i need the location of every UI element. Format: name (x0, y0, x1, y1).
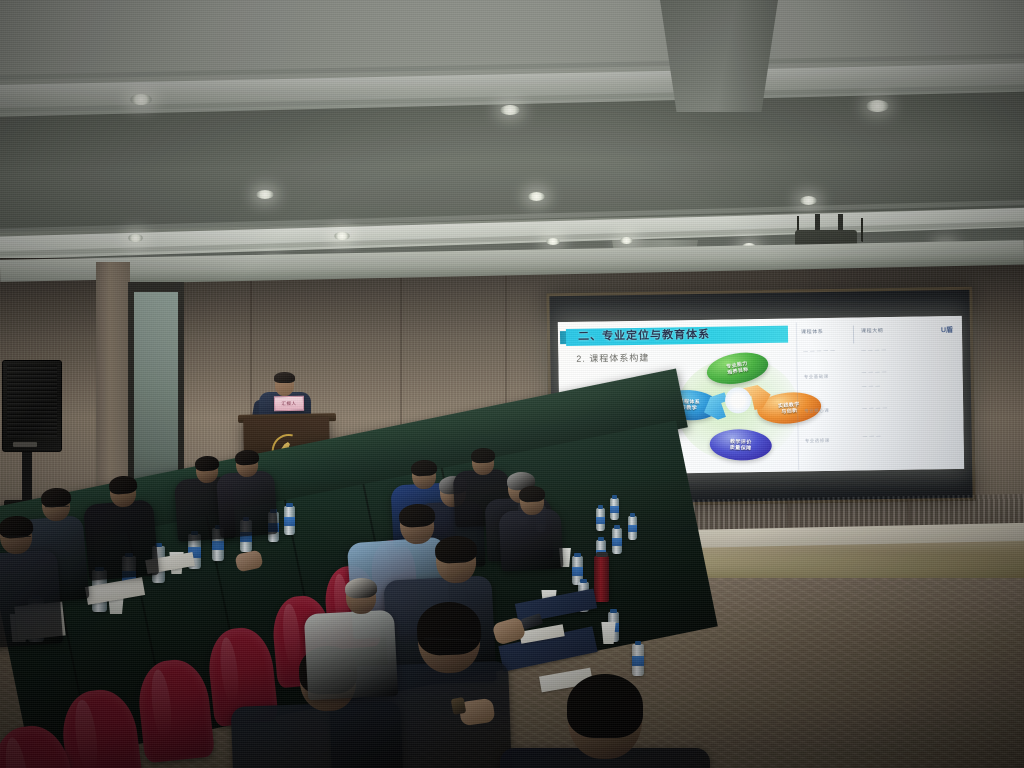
water-bottle (632, 644, 644, 676)
slide-row-text: — — — — (861, 347, 886, 352)
slide-row-text: — — — (863, 433, 882, 438)
slide-row-text: — — — (862, 383, 881, 388)
bottle-label (572, 567, 583, 576)
water-bottle (284, 506, 295, 535)
attendee-torso (216, 470, 278, 538)
attendee-hair (434, 535, 477, 564)
chair-highlight (281, 604, 302, 668)
wrist-watch (451, 697, 467, 715)
bottle-cap (580, 579, 586, 583)
bottle-cap (610, 609, 616, 613)
downlight-icon (866, 100, 889, 112)
ceiling-drop-box (660, 0, 778, 112)
downlight-icon (620, 237, 633, 244)
projector-cable (861, 218, 863, 242)
bottle-label (632, 656, 644, 666)
attendee-torso (231, 701, 404, 768)
downlight-icon (256, 190, 274, 199)
bottle-label (596, 517, 605, 524)
downlight-icon (500, 105, 520, 115)
downlight-icon (528, 192, 545, 201)
attendee-torso (0, 549, 63, 649)
conference-room-photo: 二、专业定位与教育体系 2. 课程体系构建 专业能力培养目标 课程体系与教学 实… (0, 0, 1024, 768)
chair-highlight (217, 636, 241, 705)
slide-row-label-2: 专业核心课 (804, 408, 829, 414)
slide-subtitle: 2. 课程体系构建 (576, 351, 649, 365)
attendee-torso (304, 610, 398, 701)
slide-row-text: — — — — (862, 405, 887, 410)
water-bottle (612, 528, 622, 554)
bottle-label (212, 541, 224, 551)
thermos-cap (596, 552, 608, 557)
thermos-flask (594, 556, 609, 602)
eyeglasses-icon (3, 536, 31, 539)
attendee-torso (498, 508, 563, 571)
slide-row-text: — — — — — (803, 348, 835, 354)
slide-logo: U盾 (941, 325, 953, 335)
water-bottle (596, 508, 605, 531)
bottle-label (610, 506, 619, 513)
attendee-hair (235, 449, 260, 466)
attendee-hair (416, 601, 482, 657)
slide-row-label-1: 专业基础课 (804, 374, 829, 380)
attendee-torso (83, 499, 159, 581)
bottle-cap (635, 641, 642, 645)
bottle-cap (574, 553, 580, 557)
downlight-icon (546, 238, 560, 245)
attendee-hair (344, 577, 377, 599)
podium-name-card-text: 汇报人 (275, 397, 303, 410)
attendee-hair (471, 447, 496, 463)
speaker-stand (22, 450, 32, 506)
water-bottle (610, 498, 619, 520)
attendee-hair (567, 674, 643, 738)
chair-highlight (2, 736, 33, 768)
bottle-label (284, 517, 295, 526)
bottle-label (628, 525, 637, 532)
bottle-label (612, 538, 622, 546)
bottle-cap (598, 537, 604, 541)
downlight-icon (130, 94, 152, 105)
eyeglasses-icon (45, 505, 69, 508)
chair-highlight (148, 669, 173, 741)
downlight-icon (128, 234, 143, 242)
slide-col-header-2: 课程大纲 (861, 327, 884, 334)
pa-loudspeaker (2, 360, 62, 452)
slide-col-header-1: 课程体系 (801, 328, 824, 335)
bottle-cap (286, 503, 292, 507)
slide-row-text: — — — — (862, 369, 887, 374)
bottle-cap (612, 495, 617, 499)
bottle-cap (630, 513, 635, 517)
attendee-hair (411, 459, 438, 477)
bottle-cap (614, 525, 620, 529)
slide-row-label-3: 专业选修课 (805, 438, 830, 444)
attendee-hair (108, 475, 137, 495)
attendee-hair (195, 455, 220, 472)
presenter-hair (274, 372, 295, 383)
attendee-hair (398, 503, 436, 529)
attendee-hair (519, 485, 546, 503)
downlight-icon (334, 232, 350, 240)
wall-column (96, 262, 130, 512)
water-bottle (628, 516, 637, 540)
downlight-icon (800, 196, 817, 205)
diagram-node-bottom-label: 教学评价质量保障 (710, 438, 772, 452)
slide-right-panel: 课程体系 课程大纲 U盾 — — — — — — — — — 专业基础课 — —… (796, 320, 959, 471)
podium-name-card: 汇报人 (274, 396, 304, 412)
bottle-cap (598, 505, 603, 509)
chair-highlight (72, 699, 100, 768)
